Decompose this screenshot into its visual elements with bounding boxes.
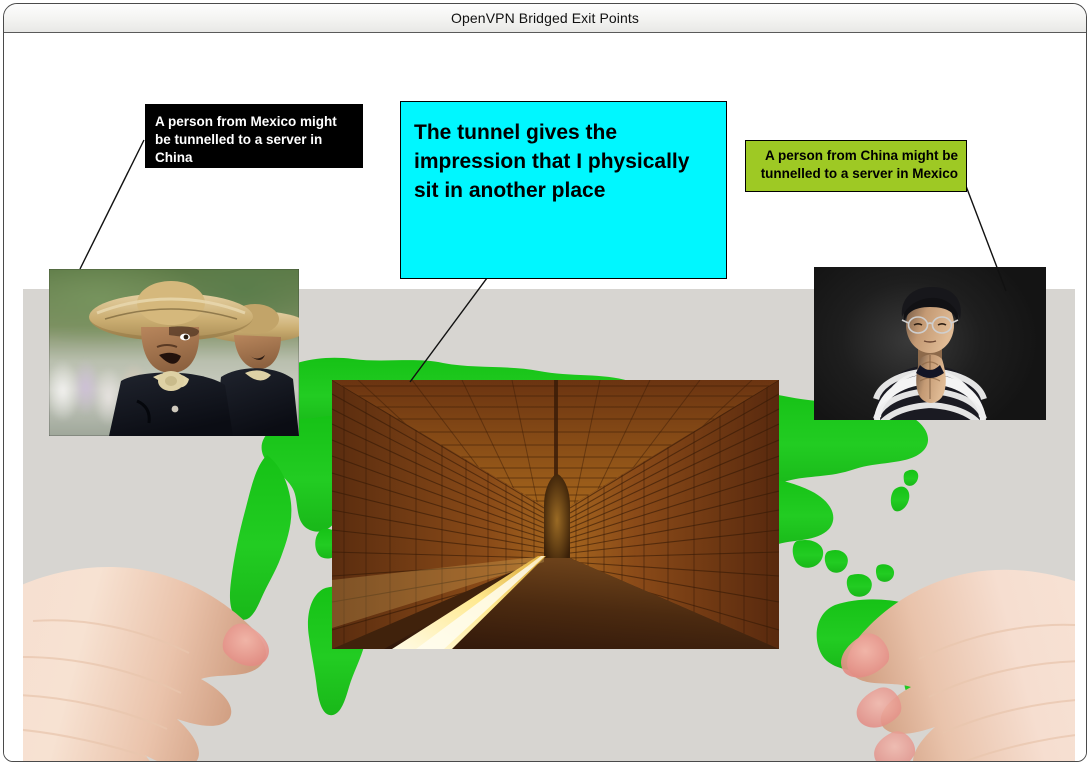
window-titlebar: OpenVPN Bridged Exit Points: [4, 4, 1086, 33]
leader-line-mexico: [80, 140, 144, 269]
callout-china-to-mexico: A person from China might be tunnelled t…: [745, 140, 967, 192]
brick-tunnel-photo: [332, 380, 779, 649]
callout-mexico-to-china: A person from Mexico might be tunnelled …: [145, 104, 363, 168]
mexico-mariachi-photo: [49, 269, 299, 436]
china-person-figure: [814, 267, 1046, 420]
slide-canvas: A person from Mexico might be tunnelled …: [4, 33, 1087, 762]
china-person-photo: [814, 267, 1046, 420]
mariachi-figures: [49, 269, 299, 436]
window-title: OpenVPN Bridged Exit Points: [451, 10, 639, 26]
callout-tunnel-impression: The tunnel gives the impression that I p…: [400, 101, 727, 279]
tunnel-graphic: [332, 380, 779, 649]
application-window: OpenVPN Bridged Exit Points: [3, 3, 1087, 762]
